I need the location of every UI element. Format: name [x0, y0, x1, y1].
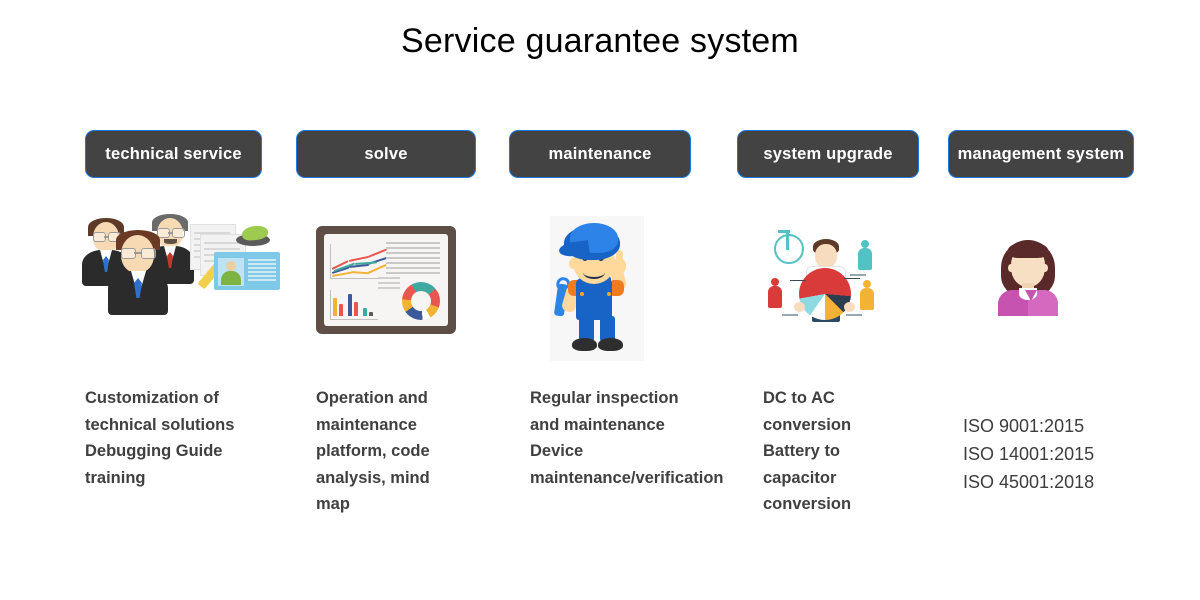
column-management-system: management system: [948, 130, 1134, 178]
pill-label: system upgrade: [763, 145, 892, 164]
pill-system-upgrade[interactable]: system upgrade: [737, 130, 919, 178]
column-technical-service: technical service: [85, 130, 262, 178]
illustration-business-team-and-id-card: [82, 208, 282, 318]
donut-chart: [402, 282, 440, 320]
body-text-management-system: ISO 9001:2015 ISO 14001:2015 ISO 45001:2…: [963, 412, 1153, 496]
body-text-system-upgrade: DC to AC conversion Battery to capacitor…: [763, 385, 883, 518]
body-text-technical-service: Customization of technical solutions Deb…: [85, 385, 270, 491]
id-card-document-icon: [190, 220, 282, 306]
illustration-woman-avatar: [995, 238, 1061, 314]
pie-chart: [799, 268, 851, 320]
pill-solve[interactable]: solve: [296, 130, 476, 178]
slide-canvas: Service guarantee system technical servi…: [0, 0, 1200, 600]
body-text-solve: Operation and maintenance platform, code…: [316, 385, 456, 518]
id-card: [214, 252, 280, 290]
column-system-upgrade: system upgrade: [737, 130, 919, 178]
pill-label: solve: [364, 145, 407, 164]
column-maintenance: maintenance: [509, 130, 691, 178]
pill-label: technical service: [105, 145, 241, 164]
illustration-mechanic: [550, 216, 644, 361]
illustration-pie-chart-presenter: [768, 228, 878, 328]
column-solve: solve: [296, 130, 476, 178]
pill-maintenance[interactable]: maintenance: [509, 130, 691, 178]
pill-label: maintenance: [548, 145, 651, 164]
pill-technical-service[interactable]: technical service: [85, 130, 262, 178]
pill-management-system[interactable]: management system: [948, 130, 1134, 178]
body-text-maintenance: Regular inspection and maintenance Devic…: [530, 385, 700, 491]
illustration-analytics-dashboard: [316, 226, 456, 334]
pie-ring-icon: [774, 234, 804, 264]
pill-label: management system: [958, 145, 1125, 164]
page-title: Service guarantee system: [0, 22, 1200, 61]
